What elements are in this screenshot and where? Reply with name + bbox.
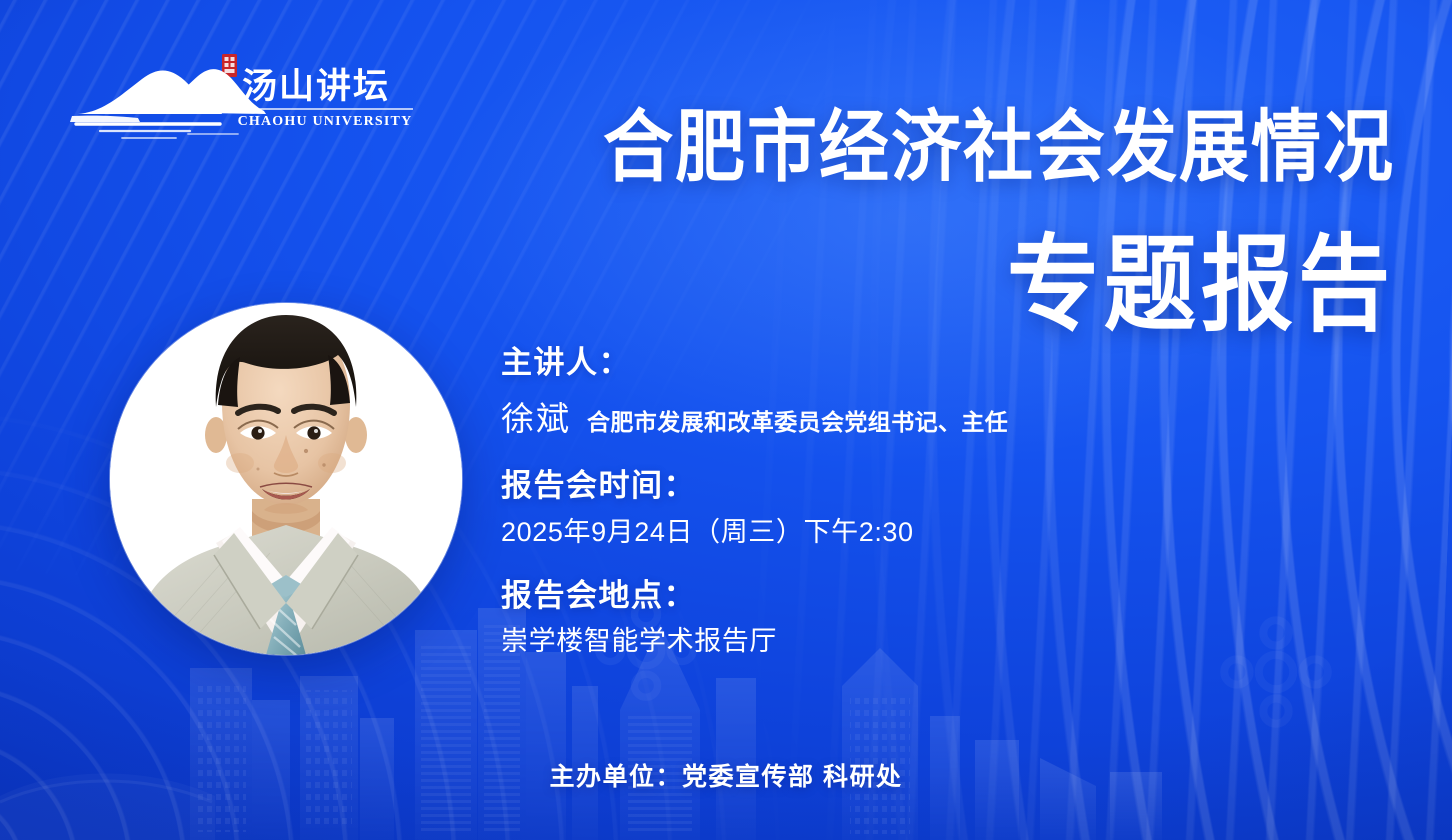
svg-text:CHAOHU UNIVERSITY: CHAOHU UNIVERSITY [238, 114, 413, 129]
location-label: 报告会地点： [501, 577, 1291, 616]
svg-text:汤山讲坛: 汤山讲坛 [242, 67, 390, 106]
time-value: 2025年9月24日（周三）下午2:30 [501, 515, 1291, 550]
brand-logo: 汤山讲坛 CHAOHU UNIVERSITY [70, 52, 415, 152]
wave-lines-icon [76, 124, 238, 138]
avatar [110, 303, 462, 655]
speaker-row: 徐斌 合肥市发展和改革委员会党组书记、主任 [501, 392, 1291, 440]
location-value: 崇学楼智能学术报告厅 [501, 624, 1291, 659]
mountain-waves-icon [70, 69, 266, 122]
speaker-title: 合肥市发展和改革委员会党组书记、主任 [587, 403, 1008, 437]
page-title: 合肥市经济社会发展情况 专题报告 [430, 108, 1395, 325]
organizers-footer: 主办单位：党委宣传部 科研处 [0, 757, 1452, 793]
time-label: 报告会时间： [501, 467, 1291, 506]
headline-line-1: 合肥市经济社会发展情况 [430, 108, 1395, 186]
speaker-label: 主讲人： [501, 344, 1291, 383]
headline-line-2: 专题报告 [430, 233, 1395, 338]
event-details: 主讲人： 徐斌 合肥市发展和改革委员会党组书记、主任 报告会时间： 2025年9… [501, 344, 1291, 659]
speaker-name: 徐斌 [501, 392, 571, 440]
event-poster: 汤山讲坛 CHAOHU UNIVERSITY [0, 0, 1452, 840]
